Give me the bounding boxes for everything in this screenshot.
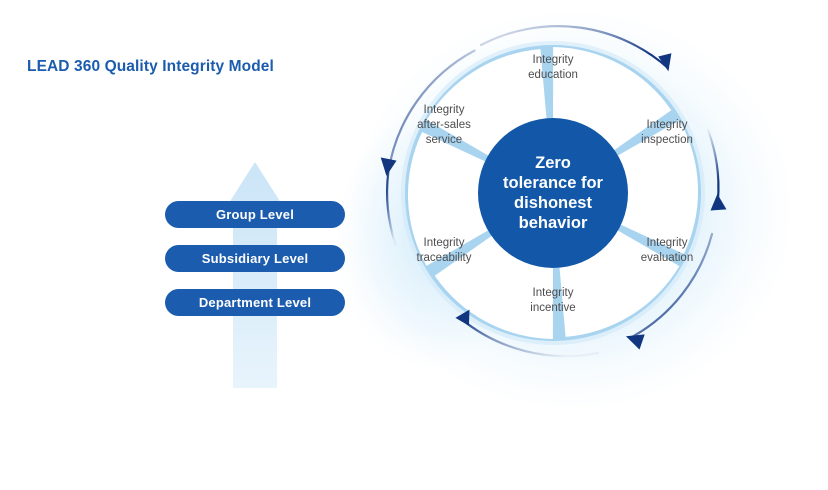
arrow-head-right — [709, 193, 726, 210]
wheel-hub — [478, 118, 628, 268]
page-title: LEAD 360 Quality Integrity Model — [27, 58, 274, 76]
levels-group: Group Level Subsidiary Level Department … — [165, 150, 365, 400]
level-pill-label: Department Level — [199, 295, 311, 310]
arrow-arc-right-upper — [708, 130, 718, 200]
integrity-wheel: Integrity education Integrity inspection… — [368, 8, 738, 378]
diagram-canvas: LEAD 360 Quality Integrity Model Group L… — [0, 0, 828, 427]
level-pill-label: Subsidiary Level — [202, 251, 309, 266]
level-pill-label: Group Level — [216, 207, 294, 222]
arrow-arc-left — [387, 173, 395, 245]
level-pill-department[interactable]: Department Level — [165, 289, 345, 316]
level-pill-subsidiary[interactable]: Subsidiary Level — [165, 245, 345, 272]
wheel-graphic — [368, 8, 738, 378]
level-pill-group[interactable]: Group Level — [165, 201, 345, 228]
up-arrow-icon — [165, 150, 365, 400]
